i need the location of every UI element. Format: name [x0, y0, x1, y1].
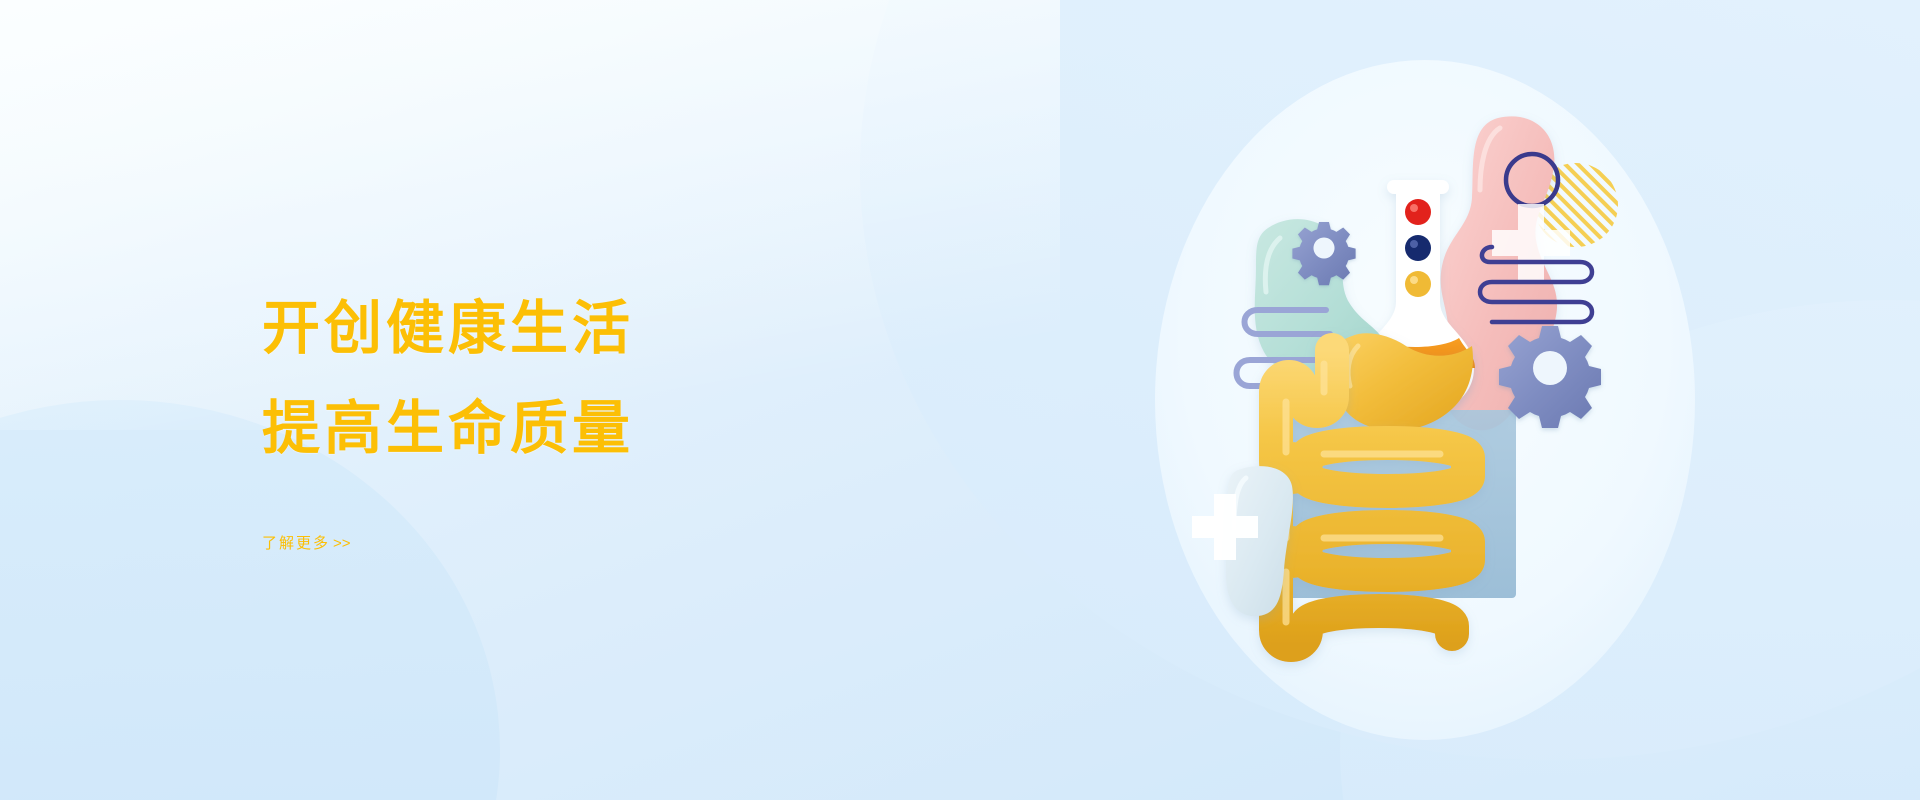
learn-more-link[interactable]: 了解更多>> [262, 532, 351, 553]
flask-dot-red [1405, 199, 1431, 225]
hero-banner: 开创健康生活 提高生命质量 了解更多>> [0, 0, 1920, 800]
hero-copy: 开创健康生活 提高生命质量 了解更多>> [262, 300, 822, 553]
gear-large [1499, 326, 1601, 428]
chevron-right-icon: >> [330, 535, 351, 552]
learn-more-label: 了解更多 [262, 535, 330, 552]
flask-dot-yellow [1405, 271, 1431, 297]
headline-line-2: 提高生命质量 [262, 400, 822, 458]
headline-line-1: 开创健康生活 [262, 300, 822, 358]
gear-small [1292, 222, 1355, 285]
digestive-system-illustration [1080, 0, 1780, 800]
flask-dot-navy [1405, 235, 1431, 261]
